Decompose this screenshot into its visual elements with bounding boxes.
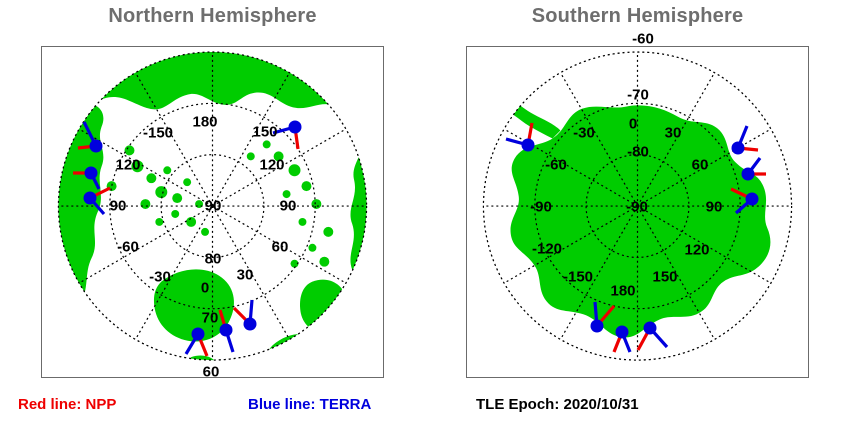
grid-label: -60 [632,31,654,48]
grid-label-lat: -80 [627,144,649,161]
grid-label: 30 [665,125,682,142]
legend-tle-epoch: TLE Epoch: 2020/10/31 [476,396,639,413]
grid-label: -30 [573,125,595,142]
southern-panel-title: Southern Hemisphere [425,5,850,28]
grid-label: -120 [532,241,562,258]
grid-label: 90 [280,198,297,215]
grid-label: 90 [706,199,723,216]
grid-label-lat: 70 [202,310,219,327]
grid-label: 60 [272,239,289,256]
legend-npp: Red line: NPP [18,396,116,413]
grid-label: 150 [252,124,277,141]
grid-label: -70 [627,87,649,104]
grid-label: 0 [201,280,209,297]
northern-hemisphere-panel: Northern Hemisphere [0,0,425,425]
grid-label-pole: -90 [626,199,648,216]
grid-label-lat: 80 [205,251,222,268]
grid-label: -30 [149,269,171,286]
legend-terra: Blue line: TERRA [248,396,371,413]
grid-label: -150 [143,125,173,142]
grid-label: 30 [237,267,254,284]
grid-label-lat: 60 [203,364,220,381]
grid-label: 150 [652,269,677,286]
northern-panel-title: Northern Hemisphere [0,5,425,28]
grid-label: 120 [115,157,140,174]
grid-label: 90 [110,198,127,215]
grid-label: 180 [192,114,217,131]
grid-label: -150 [563,269,593,286]
grid-label: 180 [610,283,635,300]
southern-hemisphere-panel: Southern Hemisphere [425,0,850,425]
grid-label: 120 [259,157,284,174]
grid-label: -60 [545,157,567,174]
grid-label: -60 [117,239,139,256]
satellite-tracking-view: Northern Hemisphere [0,0,850,425]
grid-label: 60 [692,157,709,174]
grid-label: 0 [629,116,637,133]
grid-label-pole: 90 [205,198,222,215]
grid-label: -90 [530,199,552,216]
grid-label: 120 [684,242,709,259]
